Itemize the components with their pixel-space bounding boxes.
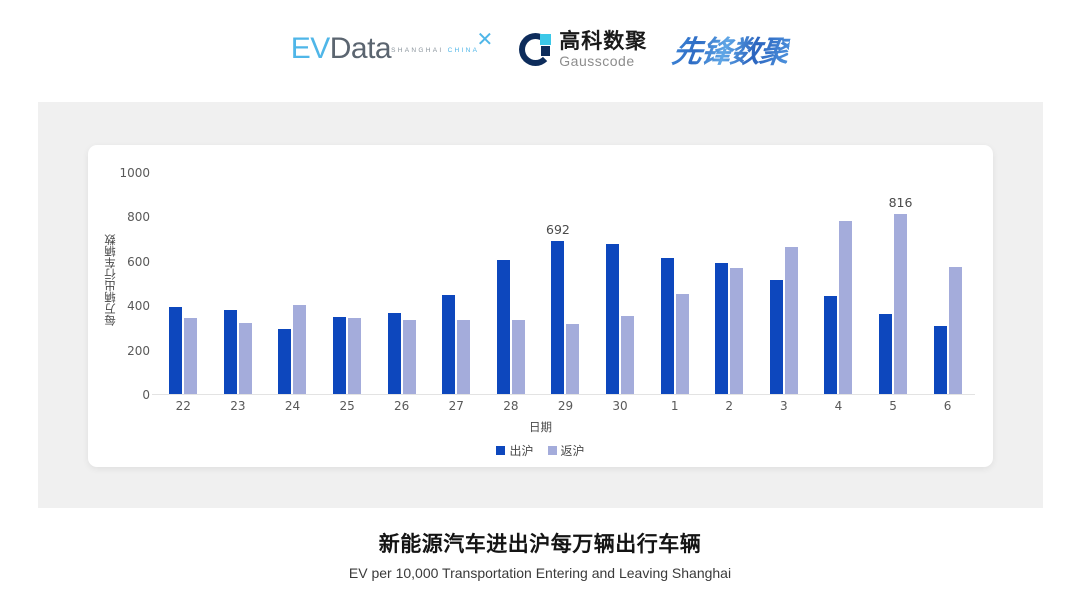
x-axis-tick-label: 1: [647, 399, 702, 417]
legend-swatch-icon: [496, 446, 505, 455]
bar-chuhu[interactable]: [442, 295, 455, 395]
bar-fanhu[interactable]: [785, 247, 798, 395]
bar-fanhu[interactable]: [239, 323, 252, 395]
bar-value-label: 816: [889, 195, 913, 210]
y-axis-tick-label: 600: [112, 255, 150, 269]
y-axis-tick-label: 200: [112, 344, 150, 358]
bar-group: [211, 173, 266, 395]
x-axis-tick-label: 26: [374, 399, 429, 417]
bar-group: 692: [538, 173, 593, 395]
bar-groups: 692816: [156, 173, 975, 395]
bar-fanhu[interactable]: [566, 324, 579, 395]
bar-group: [265, 173, 320, 395]
slide-root: EVData ✕ SHANGHAI CHINA 高科数聚 Gausscode 先…: [0, 0, 1080, 608]
bar-group: [920, 173, 975, 395]
bar-chuhu[interactable]: [606, 244, 619, 395]
evdata-tagline-city: SHANGHAI: [391, 47, 447, 54]
legend-item[interactable]: 返沪: [548, 442, 585, 459]
bar-value-label: 692: [546, 222, 570, 237]
x-axis-tick-label: 25: [320, 399, 375, 417]
bar-chuhu[interactable]: [770, 280, 783, 395]
bar-fanhu[interactable]: [457, 320, 470, 395]
bar-fanhu[interactable]: [949, 267, 962, 395]
evdata-tagline: SHANGHAI CHINA: [391, 47, 479, 54]
x-axis-labels: 222324252627282930123456: [156, 399, 975, 417]
x-axis-tick-label: 2: [702, 399, 757, 417]
bar-fanhu[interactable]: 816: [894, 214, 907, 395]
x-axis-tick-label: 23: [211, 399, 266, 417]
gausscode-logo: 高科数聚 Gausscode: [519, 31, 647, 68]
evdata-logo-ev-text: EV: [291, 32, 330, 65]
evdata-x-icon: ✕: [477, 30, 494, 50]
bar-group: [320, 173, 375, 395]
bar-fanhu[interactable]: [293, 305, 306, 395]
chart-panel-background: 每万辆出行车辆数 02004006008001000 692816 222324…: [38, 102, 1043, 508]
y-axis-tick-label: 800: [112, 210, 150, 224]
gausscode-square-accent-icon: [540, 34, 551, 45]
x-axis-baseline: [152, 394, 975, 396]
x-axis-tick-label: 24: [265, 399, 320, 417]
bar-chuhu[interactable]: [934, 326, 947, 395]
bar-fanhu[interactable]: [184, 318, 197, 395]
bar-chuhu[interactable]: [278, 329, 291, 395]
bar-fanhu[interactable]: [839, 221, 852, 395]
bar-group: [702, 173, 757, 395]
bar-chuhu[interactable]: 692: [551, 241, 564, 395]
bar-group: [757, 173, 812, 395]
bar-group: [593, 173, 648, 395]
bar-group: [811, 173, 866, 395]
plot-area: 02004006008001000 692816: [156, 173, 975, 395]
bar-chuhu[interactable]: [497, 260, 510, 395]
bar-fanhu[interactable]: [403, 320, 416, 395]
x-axis-tick-label: 27: [429, 399, 484, 417]
y-axis-tick-label: 1000: [112, 166, 150, 180]
bar-fanhu[interactable]: [348, 318, 361, 395]
bar-fanhu[interactable]: [621, 316, 634, 395]
legend-label: 出沪: [509, 442, 533, 459]
bar-chuhu[interactable]: [333, 317, 346, 395]
caption-title-cn: 新能源汽车进出沪每万辆出行车辆: [0, 528, 1080, 558]
x-axis-tick-label: 6: [920, 399, 975, 417]
y-axis-tick-label: 400: [112, 299, 150, 313]
bar-group: [429, 173, 484, 395]
xianfeng-logo: 先锋数聚: [673, 27, 789, 71]
bar-group: [647, 173, 702, 395]
gausscode-mark-icon: [519, 33, 552, 66]
gausscode-logo-cn-text: 高科数聚: [559, 31, 647, 52]
x-axis-tick-label: 22: [156, 399, 211, 417]
bar-group: [156, 173, 211, 395]
chart-card: 每万辆出行车辆数 02004006008001000 692816 222324…: [88, 145, 993, 467]
bar-chuhu[interactable]: [169, 307, 182, 395]
bar-fanhu[interactable]: [512, 320, 525, 395]
x-axis-title: 日期: [88, 419, 993, 435]
logo-bar: EVData ✕ SHANGHAI CHINA 高科数聚 Gausscode 先…: [0, 18, 1080, 80]
bar-chuhu[interactable]: [388, 313, 401, 395]
evdata-tagline-country: CHINA: [448, 47, 480, 54]
bar-fanhu[interactable]: [730, 268, 743, 395]
gausscode-logo-en-text: Gausscode: [559, 54, 647, 68]
x-axis-tick-label: 5: [866, 399, 921, 417]
bar-chuhu[interactable]: [715, 263, 728, 395]
bar-group: 816: [866, 173, 921, 395]
x-axis-tick-label: 29: [538, 399, 593, 417]
bar-group: [484, 173, 539, 395]
bar-fanhu[interactable]: [676, 294, 689, 395]
evdata-logo-data-text: Data: [330, 32, 391, 65]
x-axis-tick-label: 4: [811, 399, 866, 417]
legend-item[interactable]: 出沪: [496, 442, 533, 459]
evdata-logo: EVData ✕ SHANGHAI CHINA: [291, 34, 494, 64]
y-axis-tick-label: 0: [112, 388, 150, 402]
legend-swatch-icon: [548, 446, 557, 455]
caption-subtitle-en: EV per 10,000 Transportation Entering an…: [0, 565, 1080, 581]
x-axis-tick-label: 28: [484, 399, 539, 417]
bar-chart: 每万辆出行车辆数 02004006008001000 692816 222324…: [88, 145, 993, 467]
chart-legend: 出沪返沪: [88, 442, 993, 459]
bar-group: [374, 173, 429, 395]
bar-chuhu[interactable]: [824, 296, 837, 395]
legend-label: 返沪: [561, 442, 585, 459]
x-axis-tick-label: 30: [593, 399, 648, 417]
x-axis-tick-label: 3: [757, 399, 812, 417]
bar-chuhu[interactable]: [224, 310, 237, 395]
gausscode-square-dark-icon: [541, 46, 550, 56]
xianfeng-logo-text: 先锋数聚: [670, 27, 792, 71]
caption: 新能源汽车进出沪每万辆出行车辆 EV per 10,000 Transporta…: [0, 528, 1080, 581]
bar-chuhu[interactable]: [661, 258, 674, 395]
bar-chuhu[interactable]: [879, 314, 892, 395]
